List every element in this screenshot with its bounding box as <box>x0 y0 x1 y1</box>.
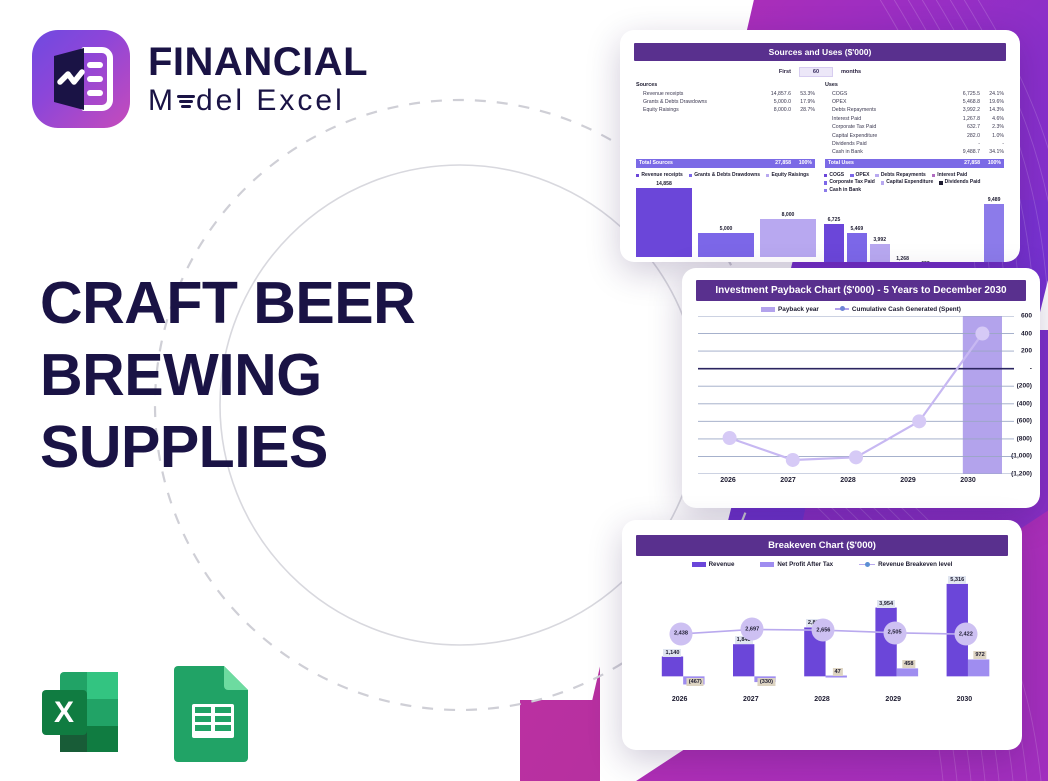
bar-column: 14,858 <box>636 181 692 257</box>
bar-column: 9,489 <box>984 196 1004 262</box>
promo-banner: FINANCIAL M del Excel CRAFT BEER BREWING… <box>0 0 1048 781</box>
bar-value-label: 6,725 <box>828 217 841 223</box>
total-uses-label: Total Uses <box>825 160 946 166</box>
svg-text:X: X <box>54 696 74 729</box>
npat-value-label: 47 <box>833 668 843 676</box>
use-pct: 4.6% <box>980 115 1004 123</box>
brand-subtitle: M del Excel <box>148 86 368 116</box>
total-sources-value: 27,858 <box>757 160 791 166</box>
use-label: OPEX <box>825 98 946 106</box>
source-row-spacer <box>636 132 815 140</box>
bar-column: 282 <box>938 196 958 262</box>
google-sheets-icon <box>172 660 254 769</box>
legend-label: OPEX <box>856 172 870 180</box>
npat-value-label: 458 <box>902 660 915 668</box>
brand-subtitle-prefix: M <box>148 86 176 116</box>
sources-uses-title: Sources and Uses ($'000) <box>634 43 1006 61</box>
payback-x-tick: 2029 <box>878 477 938 484</box>
legend-item: Interest Paid <box>932 172 967 180</box>
payback-y-tick: - <box>1030 365 1032 372</box>
legend-npat: Net Profit After Tax <box>760 561 833 568</box>
payback-y-tick: (1,200) <box>1011 471 1032 478</box>
use-row: Dividends Paid-- <box>825 140 1004 148</box>
source-pct: 53.3% <box>791 90 815 98</box>
sources-header: Sources <box>636 82 815 88</box>
payback-plot: 600400200-(200)(400)(600)(800)(1,000)(1,… <box>698 316 998 474</box>
breakeven-x-tick: 2026 <box>644 696 715 703</box>
payback-y-tick: (800) <box>1017 435 1032 442</box>
source-value: 5,000.0 <box>757 98 791 106</box>
total-sources-pct: 100% <box>791 160 815 166</box>
sources-bars: 14,8585,0008,000 <box>636 179 816 257</box>
total-sources-label: Total Sources <box>636 160 757 166</box>
breakeven-x-tick: 2029 <box>858 696 929 703</box>
legend-item: Dividends Paid <box>939 179 980 187</box>
npat-value-label: (467) <box>687 678 704 686</box>
breakeven-value-bubble: 2,438 <box>670 622 693 645</box>
bar <box>824 224 844 262</box>
bar <box>636 188 692 257</box>
period-months-input[interactable]: 60 <box>799 67 833 77</box>
use-pct: - <box>980 140 1004 148</box>
legend-item: Debts Repayments <box>875 172 925 180</box>
source-row-spacer <box>636 148 815 156</box>
legend-breakeven-level: Revenue Breakeven level <box>859 561 952 568</box>
period-selector-row: First 60 months <box>628 67 1012 77</box>
use-value: 6,725.5 <box>946 90 980 98</box>
use-value: 1,267.8 <box>946 115 980 123</box>
investment-payback-card: Investment Payback Chart ($'000) - 5 Yea… <box>682 268 1040 508</box>
bar-column: 8,000 <box>760 181 816 257</box>
total-sources-row: Total Sources 27,858 100% <box>636 159 815 168</box>
uses-column: Uses COGS6,725.524.1%OPEX5,468.819.6%Deb… <box>825 82 1004 168</box>
legend-item: Equity Raisings <box>766 172 809 180</box>
legend-label: Corporate Tax Paid <box>829 179 874 187</box>
uses-header: Uses <box>825 82 1004 88</box>
use-label: Corporate Tax Paid <box>825 123 946 131</box>
legend-item: Corporate Tax Paid <box>824 179 875 187</box>
bar-column: 5,469 <box>847 196 867 262</box>
payback-y-tick: (200) <box>1017 383 1032 390</box>
use-value: 9,488.7 <box>946 148 980 156</box>
use-row: COGS6,725.524.1% <box>825 90 1004 98</box>
use-value: 632.7 <box>946 123 980 131</box>
bar-column: 6,725 <box>824 196 844 262</box>
breakeven-x-axis: 20262027202820292030 <box>644 696 1000 703</box>
payback-y-tick: (400) <box>1017 400 1032 407</box>
legend-item: OPEX <box>850 172 869 180</box>
legend-label: COGS <box>829 172 844 180</box>
source-label: Equity Raisings <box>636 106 757 114</box>
page-title: CRAFT BEER BREWING SUPPLIES <box>40 268 415 484</box>
legend-label: Interest Paid <box>937 172 967 180</box>
sources-legend: Revenue receiptsGrants & Debts Drawdowns… <box>636 172 816 180</box>
source-pct: 17.9% <box>791 98 815 106</box>
breakeven-value-bubble: 2,505 <box>883 621 906 644</box>
bar <box>870 244 890 262</box>
legend-item: Cash in Bank <box>824 187 861 195</box>
payback-y-tick: (600) <box>1017 418 1032 425</box>
bar-value-label: 14,858 <box>656 181 672 187</box>
use-label: COGS <box>825 90 946 98</box>
legend-item: Capital Expenditure <box>881 179 933 187</box>
use-value: 5,468.8 <box>946 98 980 106</box>
payback-y-tick: 600 <box>1021 313 1032 320</box>
bar-column: 0 <box>961 196 981 262</box>
use-value: 282.0 <box>946 132 980 140</box>
source-pct: 28.7% <box>791 106 815 114</box>
sources-uses-table: Sources Revenue receipts14,857.653.3%Gra… <box>628 82 1012 168</box>
bar <box>760 219 816 257</box>
revenue-value-label: 3,954 <box>877 600 895 608</box>
payback-y-axis: 600400200-(200)(400)(600)(800)(1,000)(1,… <box>998 316 1032 474</box>
bar <box>984 204 1004 262</box>
source-row-spacer <box>636 140 815 148</box>
legend-label: Dividends Paid <box>945 179 981 187</box>
bar-column: 633 <box>916 196 936 262</box>
source-label: Grants & Debts Drawdowns <box>636 98 757 106</box>
use-pct: 24.1% <box>980 90 1004 98</box>
legend-payback-year: Payback year <box>761 306 819 313</box>
bar-column: 3,992 <box>870 196 890 262</box>
use-value: - <box>946 140 980 148</box>
revenue-value-label: 1,140 <box>663 649 681 657</box>
legend-label: Cash in Bank <box>829 187 861 195</box>
payback-legend: Payback year Cumulative Cash Generated (… <box>690 306 1032 313</box>
use-value: 3,992.2 <box>946 106 980 114</box>
breakeven-title: Breakeven Chart ($'000) <box>636 535 1008 556</box>
legend-label: Debts Repayments <box>881 172 926 180</box>
bar-value-label: 5,000 <box>720 226 733 232</box>
legend-label: Revenue receipts <box>641 172 682 180</box>
use-row: OPEX5,468.819.6% <box>825 98 1004 106</box>
source-row: Equity Raisings8,000.028.7% <box>636 106 815 114</box>
use-row: Capital Expenditure282.01.0% <box>825 132 1004 140</box>
source-row: Revenue receipts14,857.653.3% <box>636 90 815 98</box>
use-pct: 14.3% <box>980 106 1004 114</box>
source-row-spacer <box>636 115 815 123</box>
breakeven-legend: Revenue Net Profit After Tax Revenue Bre… <box>630 561 1014 568</box>
use-label: Cash in Bank <box>825 148 946 156</box>
breakeven-value-bubble: 2,422 <box>954 623 977 646</box>
bar <box>847 233 867 262</box>
bar-value-label: 8,000 <box>782 212 795 218</box>
breakeven-x-tick: 2030 <box>929 696 1000 703</box>
payback-x-axis: 20262027202820292030 <box>698 477 998 484</box>
payback-y-tick: 400 <box>1021 330 1032 337</box>
bar-value-label: 5,469 <box>850 226 863 232</box>
legend-label: Grants & Debts Drawdowns <box>694 172 760 180</box>
source-row: Grants & Debts Drawdowns5,000.017.9% <box>636 98 815 106</box>
bar-column: 5,000 <box>698 181 754 257</box>
source-value: 8,000.0 <box>757 106 791 114</box>
use-label: Capital Expenditure <box>825 132 946 140</box>
payback-y-tick: 200 <box>1021 348 1032 355</box>
breakeven-x-tick: 2028 <box>786 696 857 703</box>
sources-and-uses-card: Sources and Uses ($'000) First 60 months… <box>620 30 1020 262</box>
legend-cumulative-cash: Cumulative Cash Generated (Spent) <box>835 306 961 313</box>
legend-item: Revenue receipts <box>636 172 683 180</box>
npat-value-label: (330) <box>758 678 775 686</box>
brand-title: FINANCIAL <box>148 42 368 82</box>
uses-bar-chart: COGSOPEXDebts RepaymentsInterest PaidCor… <box>824 172 1004 262</box>
uses-legend: COGSOPEXDebts RepaymentsInterest PaidCor… <box>824 172 1004 195</box>
source-value: 14,857.6 <box>757 90 791 98</box>
legend-revenue: Revenue <box>692 561 735 568</box>
brand-subtitle-suffix: del Excel <box>196 86 345 116</box>
bar <box>698 233 754 257</box>
bar-value-label: 9,489 <box>988 197 1001 203</box>
use-pct: 2.3% <box>980 123 1004 131</box>
revenue-value-label: 5,316 <box>948 576 966 584</box>
total-uses-pct: 100% <box>980 160 1004 166</box>
use-row: Corporate Tax Paid632.72.3% <box>825 123 1004 131</box>
use-label: Dividends Paid <box>825 140 946 148</box>
period-prefix-label: First <box>779 69 791 75</box>
payback-x-tick: 2027 <box>758 477 818 484</box>
payback-x-tick: 2030 <box>938 477 998 484</box>
microsoft-excel-icon: X <box>30 660 134 769</box>
bar-value-label: 633 <box>921 261 930 262</box>
breakeven-card: Breakeven Chart ($'000) Revenue Net Prof… <box>622 520 1022 750</box>
total-uses-value: 27,858 <box>946 160 980 166</box>
use-label: Interest Paid <box>825 115 946 123</box>
total-uses-row: Total Uses 27,858 100% <box>825 159 1004 168</box>
legend-label: Capital Expenditure <box>886 179 933 187</box>
sources-uses-bar-charts: Revenue receiptsGrants & Debts Drawdowns… <box>628 168 1012 262</box>
period-suffix-label: months <box>841 69 861 75</box>
use-pct: 34.1% <box>980 148 1004 156</box>
payback-x-tick: 2026 <box>698 477 758 484</box>
financial-model-logo-icon <box>32 30 130 128</box>
breakeven-value-bubble: 2,697 <box>741 618 764 641</box>
uses-bars: 6,7255,4693,9921,26863328209,489 <box>824 194 1004 262</box>
breakeven-value-bubble: 2,656 <box>812 619 835 642</box>
payback-y-tick: (1,000) <box>1011 453 1032 460</box>
legend-item: COGS <box>824 172 844 180</box>
sources-bar-chart: Revenue receiptsGrants & Debts Drawdowns… <box>636 172 816 262</box>
use-pct: 1.0% <box>980 132 1004 140</box>
payback-x-tick: 2028 <box>818 477 878 484</box>
brand-logo: FINANCIAL M del Excel <box>32 30 368 128</box>
use-pct: 19.6% <box>980 98 1004 106</box>
payback-title: Investment Payback Chart ($'000) - 5 Yea… <box>696 280 1026 301</box>
use-label: Debts Repayments <box>825 106 946 114</box>
source-label: Revenue receipts <box>636 90 757 98</box>
use-row: Interest Paid1,267.84.6% <box>825 115 1004 123</box>
breakeven-x-tick: 2027 <box>715 696 786 703</box>
sources-column: Sources Revenue receipts14,857.653.3%Gra… <box>636 82 815 168</box>
bar-column: 1,268 <box>893 196 913 262</box>
use-row: Cash in Bank9,488.734.1% <box>825 148 1004 156</box>
supported-apps: X <box>30 660 254 769</box>
npat-value-label: 972 <box>973 651 986 659</box>
hamburger-o-icon <box>176 88 196 114</box>
bar-value-label: 3,992 <box>873 237 886 243</box>
breakeven-plot: 1,1401,8482,8143,9545,316(467)(330)47458… <box>644 572 1000 692</box>
source-row-spacer <box>636 123 815 131</box>
bar-value-label: 1,268 <box>896 256 909 262</box>
legend-item: Grants & Debts Drawdowns <box>689 172 760 180</box>
use-row: Debts Repayments3,992.214.3% <box>825 106 1004 114</box>
legend-label: Equity Raisings <box>771 172 809 180</box>
